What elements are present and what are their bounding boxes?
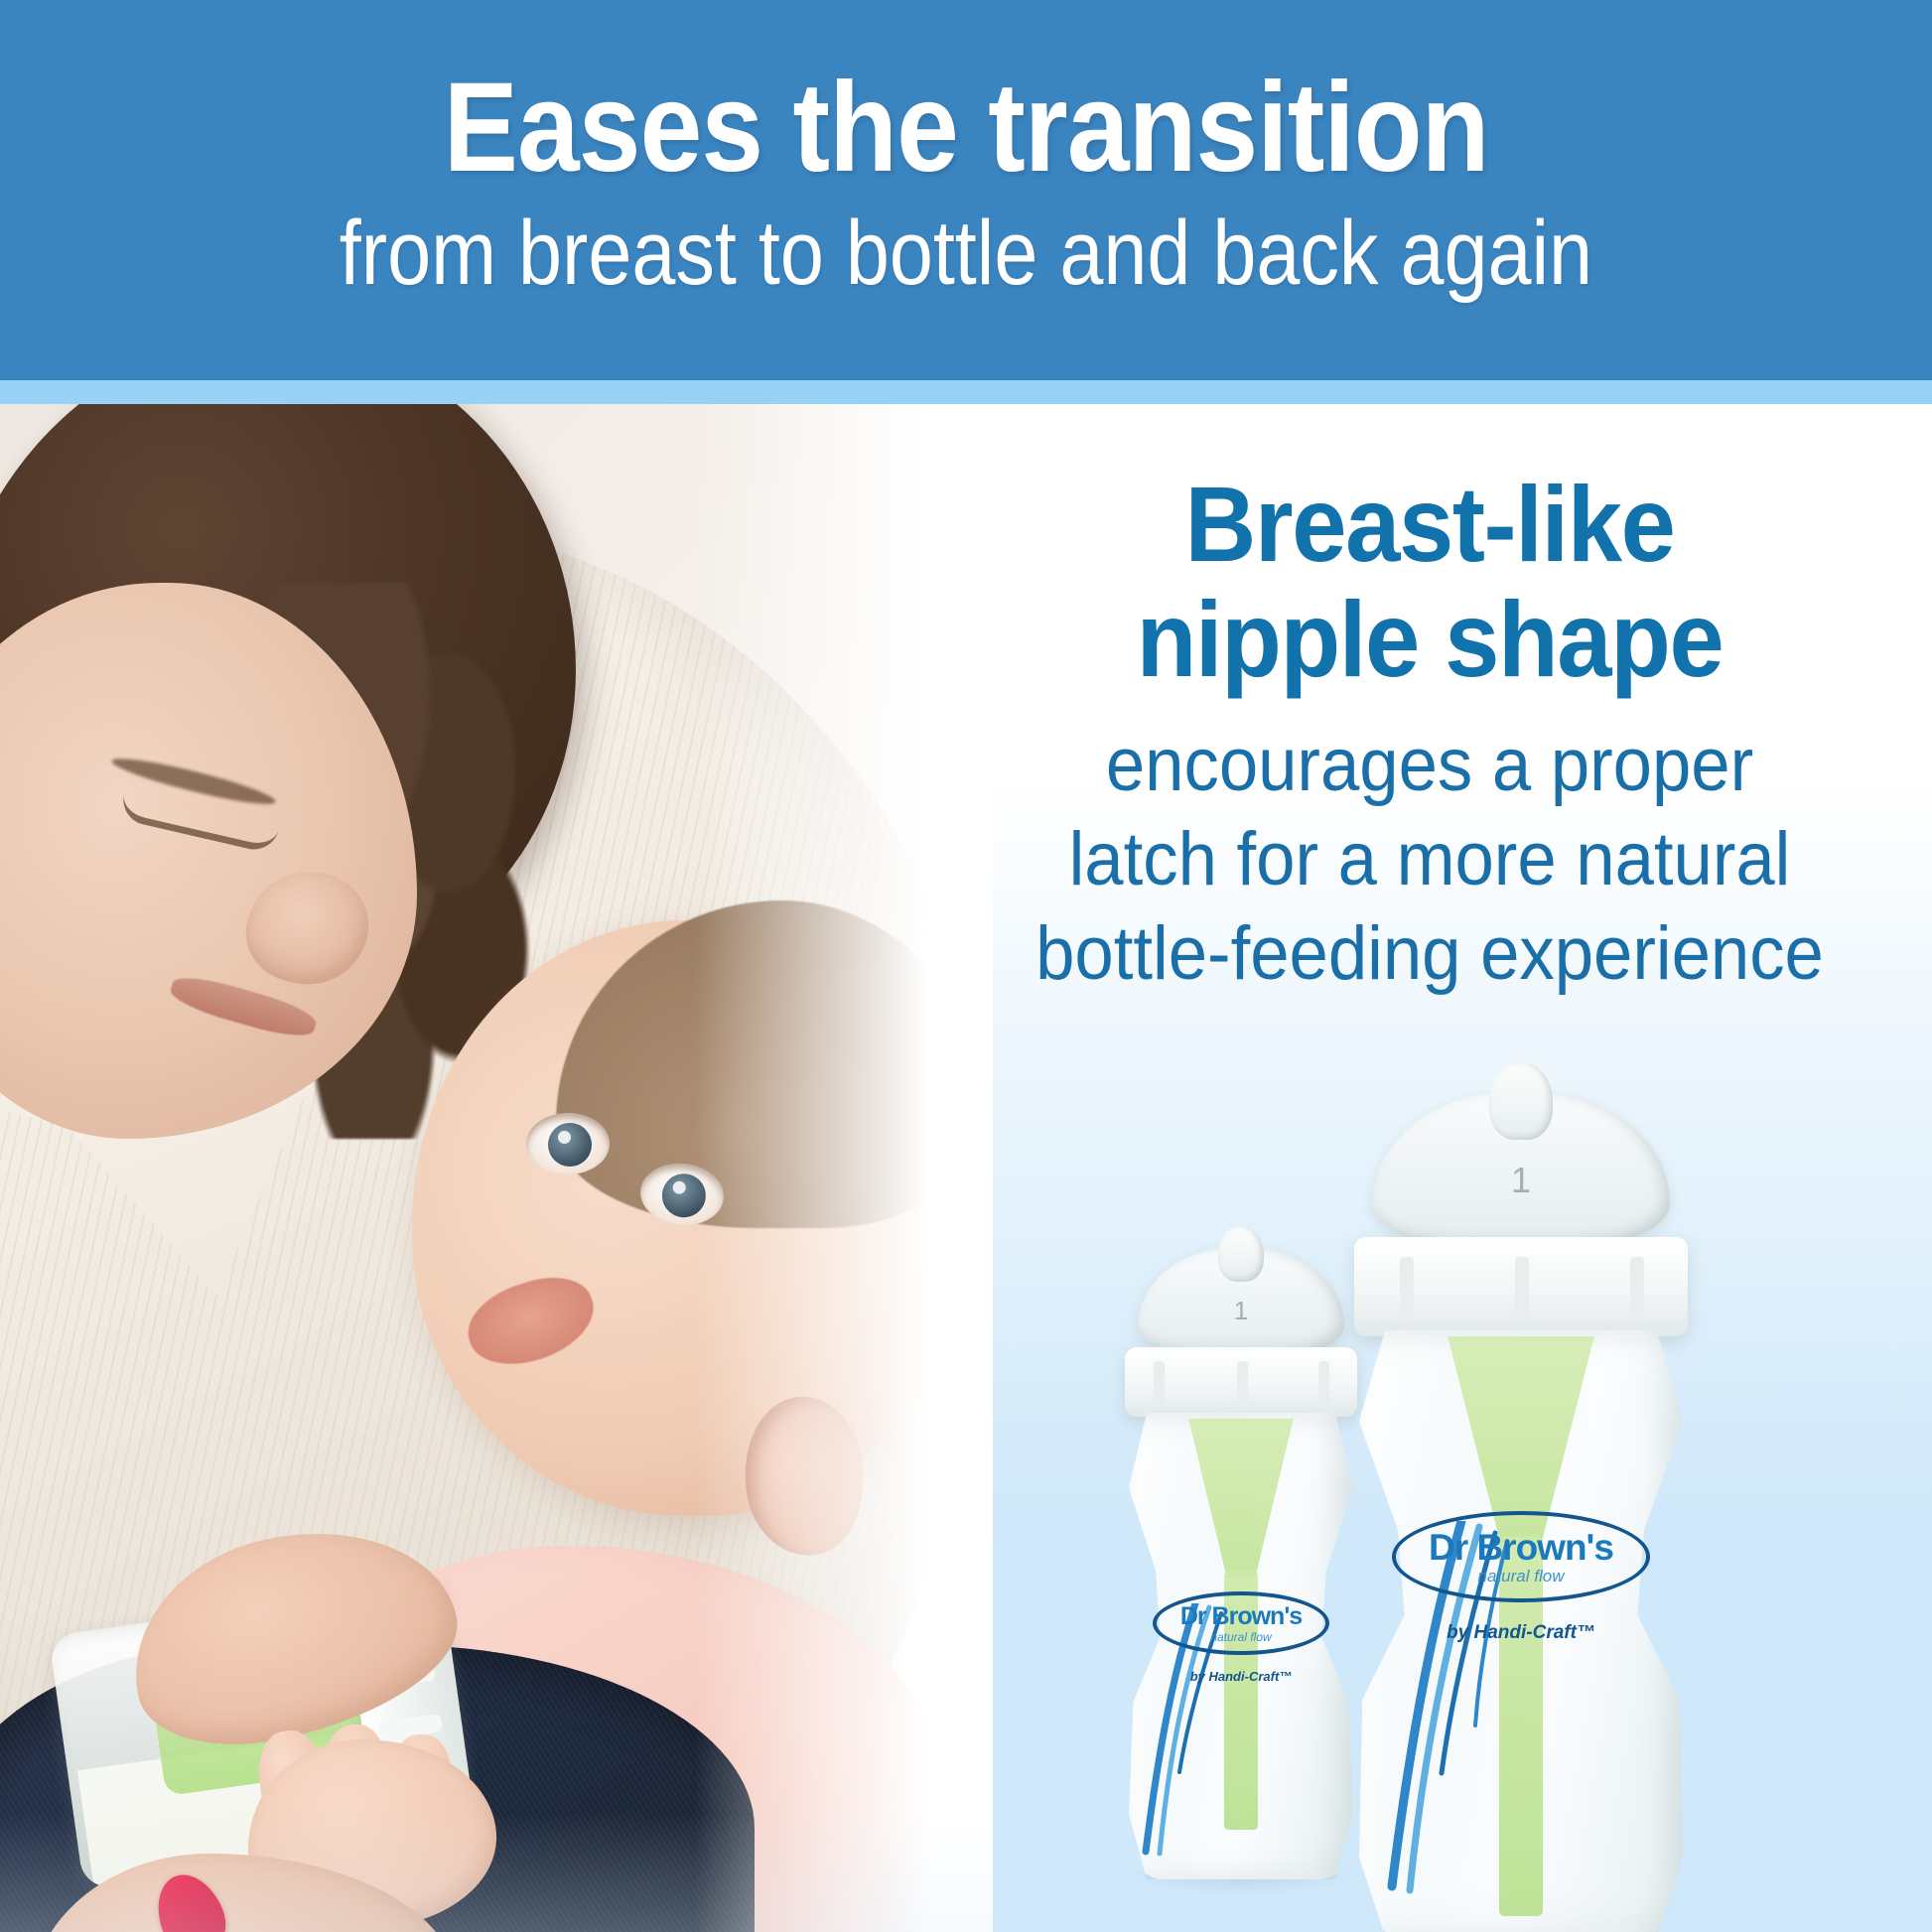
bottle-large-collar-notch <box>1400 1257 1414 1320</box>
feature-heading-line-1: Breast-like <box>1005 467 1855 582</box>
feature-body-line-2: latch for a more natural <box>1001 812 1860 906</box>
page-canvas: Eases the transition from breast to bott… <box>0 0 1932 1932</box>
photo-content: Dr Brown's <box>0 404 993 1932</box>
feature-copy-block: Breast-like nipple shape encourages a pr… <box>968 467 1891 1001</box>
bottle-large-tagline: natural flow <box>1478 1568 1565 1585</box>
header-divider-rule <box>0 380 1932 404</box>
bottle-large-nipple-level: 1 <box>1511 1160 1531 1201</box>
baby-iris-right <box>660 1172 708 1219</box>
bottle-large-maker: by Handi-Craft™ <box>1372 1622 1670 1644</box>
bottle-large: 1 Dr Brown's natural flow by Hand <box>1312 1062 1729 1916</box>
bottle-large-collar-notch <box>1515 1257 1529 1320</box>
feature-body-line-3: bottle-feeding experience <box>1001 906 1860 1001</box>
bottle-large-label: Dr Brown's natural flow by Handi-Craft™ <box>1372 1511 1670 1644</box>
feature-body-line-1: encourages a proper <box>1001 718 1860 812</box>
bottle-large-brand: Dr Brown's <box>1429 1529 1613 1566</box>
bottle-large-collar-notch <box>1630 1257 1644 1320</box>
bottle-small-logo-oval: Dr Brown's natural flow <box>1153 1591 1329 1655</box>
baby-iris-left <box>548 1123 592 1167</box>
lifestyle-photo: Dr Brown's <box>0 404 993 1932</box>
bottle-small-tagline: natural flow <box>1210 1631 1271 1643</box>
bottle-small-collar-notch <box>1237 1361 1248 1405</box>
feature-heading-line-2: nipple shape <box>1005 582 1855 697</box>
bottle-small-brand: Dr Brown's <box>1180 1604 1302 1629</box>
bottle-small-collar-notch <box>1154 1361 1165 1405</box>
headline: Eases the transition <box>444 64 1489 194</box>
bottle-small-vent-funnel <box>1181 1419 1301 1578</box>
subheadline: from breast to bottle and back again <box>340 205 1592 303</box>
product-bottles: 1 Dr Brown's natural flow by Handi- <box>1092 1042 1847 1916</box>
bottle-large-nipple-tip <box>1489 1062 1553 1140</box>
baby-eye-left <box>526 1113 610 1174</box>
bottle-large-logo-oval: Dr Brown's natural flow <box>1392 1511 1650 1602</box>
bottle-small-nipple-tip <box>1218 1226 1264 1282</box>
header-banner: Eases the transition from breast to bott… <box>0 0 1932 380</box>
bottle-small-nipple-level: 1 <box>1234 1296 1248 1326</box>
